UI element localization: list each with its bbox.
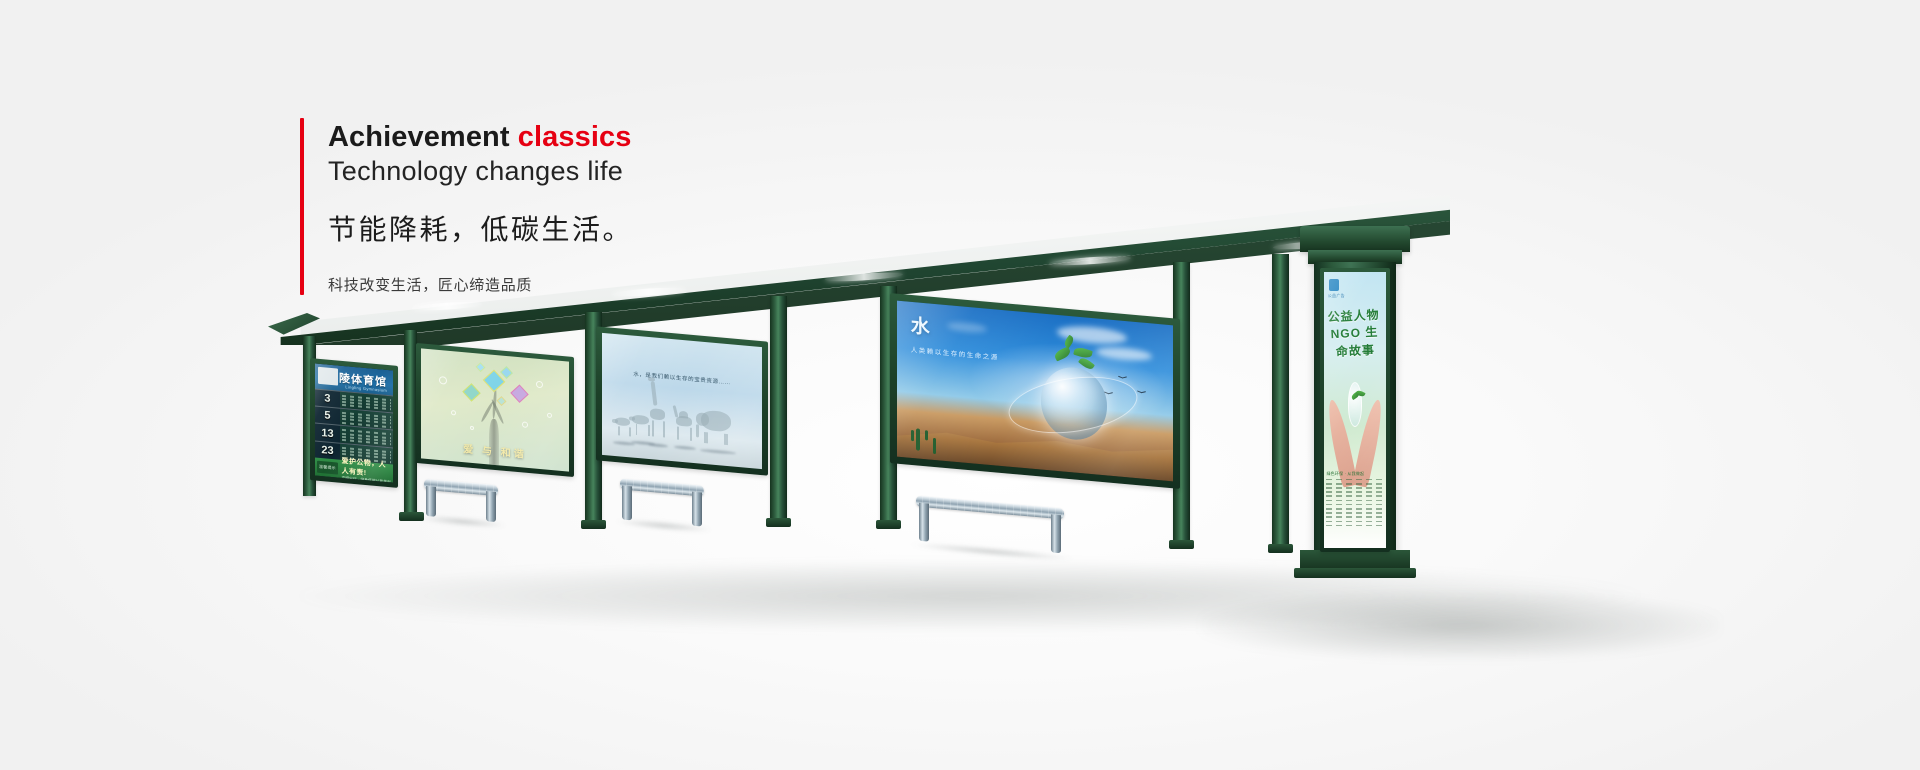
panel-caption: 水，是我们赖以生存的宝贵资源…… (602, 367, 762, 389)
cloud (947, 321, 987, 334)
board-screen: 爱 与 和谐 (421, 348, 569, 471)
giraffe-leg (652, 420, 654, 436)
elephant-leg (704, 432, 708, 443)
camel-leg (690, 427, 692, 440)
camel-neck (673, 405, 679, 417)
cactus (933, 438, 937, 454)
decor-bubble (451, 410, 456, 415)
board-screen: 零陵体育馆 Lingling Gymnasium 3 5 13 (315, 364, 393, 483)
giraffe-body (650, 408, 665, 420)
bench-leg (1051, 514, 1061, 553)
cactus (916, 429, 920, 451)
heart-leaf (497, 396, 507, 406)
bird-icon (1137, 391, 1146, 396)
shelter-bench (916, 496, 1064, 509)
post-footing (1268, 544, 1293, 553)
ad-panel-love-harmony[interactable]: 爱 与 和谐 (416, 343, 574, 477)
bench-leg (486, 491, 496, 522)
post-footing (876, 520, 901, 529)
zebra-leg (618, 426, 620, 435)
zebra-head (629, 416, 635, 421)
shelter-post (1272, 254, 1289, 546)
cloud (1096, 345, 1152, 362)
bench-ribs (916, 496, 1064, 520)
shelter-post (770, 296, 787, 520)
schedule-route-list: 3 5 13 23 (315, 388, 393, 464)
eco-bulb (1348, 382, 1363, 426)
animal-shadow (674, 445, 696, 450)
decor-bubble (439, 376, 447, 385)
zebra-leg (629, 427, 631, 436)
cactus (911, 430, 914, 441)
panel-title: 公益人物 NGO 生命故事 (1325, 306, 1385, 361)
camel-leg (677, 426, 679, 439)
giraffe-leg (663, 421, 665, 437)
eco-logo (1329, 279, 1339, 291)
cactus (925, 430, 928, 440)
schedule-footer-text: 爱护公物，人人有责! 文明出行 · 绿色低碳从我做起 (342, 456, 393, 482)
zebra-leg (636, 424, 638, 435)
ad-panel-animals[interactable]: 水，是我们赖以生存的宝贵资源…… (596, 326, 768, 475)
post-footing (766, 518, 791, 527)
giraffe-neck (650, 381, 656, 405)
schedule-logo-plate (318, 367, 338, 385)
heart-leaf (463, 383, 481, 401)
bench-leg (919, 503, 929, 542)
decor-bubble (470, 425, 474, 429)
sprout-leaf (1053, 347, 1072, 362)
giraffe-head (648, 377, 655, 382)
shelter-bench (424, 479, 498, 485)
ad-panel-eco-ngo[interactable]: 公益广告 公益人物 NGO 生命故事 绿色环保 · 从我做起 (1320, 268, 1390, 552)
bench-leg (692, 492, 702, 527)
eco-footer: 绿色环保 · 从我做起 (1326, 471, 1383, 543)
pillar-base-plinth (1294, 568, 1416, 578)
animal-shadow (648, 443, 668, 448)
camel-hump (679, 410, 688, 418)
eco-logo-label: 公益广告 (1328, 293, 1345, 299)
eco-footer-label: 绿色环保 · 从我做起 (1326, 471, 1383, 477)
bench-leg (426, 486, 436, 517)
panel-subtitle: 人类赖以生存的生命之源 (911, 344, 999, 362)
decor-bubble (536, 381, 543, 389)
decor-bubble (522, 421, 528, 428)
ad-panel-water[interactable]: 水 人类赖以生存的生命之源 (890, 293, 1180, 489)
post-footing (581, 520, 606, 529)
decor-bubble (547, 412, 552, 417)
elephant-leg (724, 434, 728, 445)
zebra-head (612, 419, 618, 424)
elephant-trunk (696, 424, 699, 437)
shelter-bench (620, 478, 704, 485)
animal-shadow (700, 449, 736, 455)
bus-shelter-render: 零陵体育馆 Lingling Gymnasium 3 5 13 (0, 0, 1920, 770)
ground-shadow-pillar (1200, 590, 1720, 660)
board-screen: 水，是我们赖以生存的宝贵资源…… (602, 333, 762, 469)
bench-leg (622, 486, 632, 521)
pillar-cap (1300, 226, 1410, 252)
board-screen: 公益广告 公益人物 NGO 生命故事 绿色环保 · 从我做起 (1324, 272, 1386, 548)
panel-title: 水 (911, 311, 931, 340)
schedule-footer-tag: 温馨提示 (317, 461, 337, 475)
post-footing (1169, 540, 1194, 549)
zebra-leg (648, 425, 650, 436)
bus-schedule-board[interactable]: 零陵体育馆 Lingling Gymnasium 3 5 13 (310, 358, 398, 488)
heart-leaf (510, 384, 528, 402)
board-screen: 水 人类赖以生存的生命之源 (897, 301, 1173, 482)
